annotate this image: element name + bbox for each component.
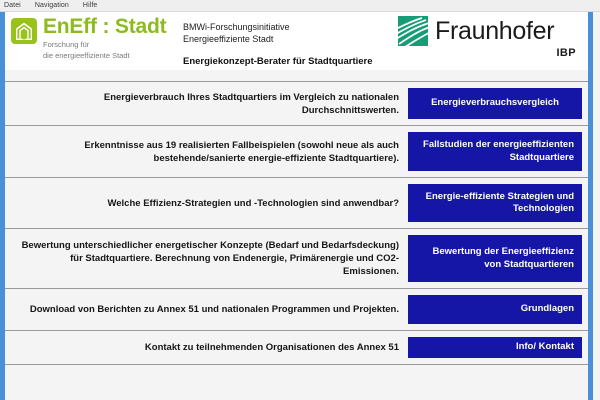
fraunhofer-wordmark: Fraunhofer bbox=[435, 17, 554, 45]
eneff-subtitle-line1: Forschung für bbox=[43, 40, 166, 50]
row-bewertung-energieeffizienz: Bewertung unterschiedlicher energetische… bbox=[5, 228, 588, 288]
eneff-brand: EnEff : Stadt Forschung für die energiee… bbox=[5, 12, 177, 61]
fraunhofer-brand: Fraunhofer IBP bbox=[398, 12, 588, 59]
fraunhofer-institute-abbr: IBP bbox=[398, 47, 580, 59]
initiative-line-2: Energieeffiziente Stadt bbox=[183, 34, 398, 46]
eneff-title: EnEff : Stadt bbox=[43, 15, 166, 39]
row-info-kontakt: Kontakt zu teilnehmenden Organisationen … bbox=[5, 330, 588, 365]
button-fallstudien[interactable]: Fallstudien der energieeffizienten Stadt… bbox=[408, 132, 582, 171]
row-fallstudien: Erkenntnisse aus 19 realisierten Fallbei… bbox=[5, 125, 588, 177]
eneff-subtitle-line2: die energieeffiziente Stadt bbox=[43, 51, 166, 61]
menu-bar-right-filler bbox=[588, 0, 600, 12]
page-header: EnEff : Stadt Forschung für die energiee… bbox=[5, 12, 588, 70]
row-energieverbrauchsvergleich: Energieverbrauch Ihres Stadtquartiers im… bbox=[5, 81, 588, 125]
button-bewertung-energieeffizienz[interactable]: Bewertung der Energieeffizienz von Stadt… bbox=[408, 235, 582, 282]
row-strategien-technologien: Welche Effizienz-Strategien und -Technol… bbox=[5, 177, 588, 228]
eneff-brand-text: EnEff : Stadt Forschung für die energiee… bbox=[43, 15, 166, 61]
row-description: Welche Effizienz-Strategien und -Technol… bbox=[5, 184, 408, 222]
eneff-house-logo-icon bbox=[11, 18, 37, 44]
page-title: Energiekonzept-Berater für Stadtquartier… bbox=[183, 56, 398, 67]
content-area: EnEff : Stadt Forschung für die energiee… bbox=[5, 12, 588, 400]
window-outer-margin-right bbox=[593, 0, 600, 400]
button-grundlagen[interactable]: Grundlagen bbox=[408, 295, 582, 324]
menu-item-navigation[interactable]: Navigation bbox=[35, 0, 76, 11]
fraunhofer-logo-row: Fraunhofer bbox=[398, 16, 580, 46]
menu-item-hilfe[interactable]: Hilfe bbox=[83, 0, 105, 11]
row-description: Kontakt zu teilnehmenden Organisationen … bbox=[5, 337, 408, 358]
application-window: Datei Navigation Hilfe EnEff : Stadt For… bbox=[0, 0, 600, 400]
row-description: Bewertung unterschiedlicher energetische… bbox=[5, 235, 408, 282]
initiative-block: BMWi-Forschungsinitiative Energieeffizie… bbox=[177, 12, 398, 67]
button-strategien-technologien[interactable]: Energie-effiziente Strategien und Techno… bbox=[408, 184, 582, 222]
menu-item-datei[interactable]: Datei bbox=[4, 0, 28, 11]
button-info-kontakt[interactable]: Info/ Kontakt bbox=[408, 337, 582, 358]
button-energieverbrauchsvergleich[interactable]: Energieverbrauchsvergleich bbox=[408, 88, 582, 119]
row-description: Energieverbrauch Ihres Stadtquartiers im… bbox=[5, 88, 408, 119]
row-description: Download von Berichten zu Annex 51 und n… bbox=[5, 295, 408, 324]
row-description: Erkenntnisse aus 19 realisierten Fallbei… bbox=[5, 132, 408, 171]
initiative-line-1: BMWi-Forschungsinitiative bbox=[183, 22, 398, 34]
row-grundlagen: Download von Berichten zu Annex 51 und n… bbox=[5, 288, 588, 330]
navigation-rows: Energieverbrauch Ihres Stadtquartiers im… bbox=[5, 70, 588, 365]
menu-bar: Datei Navigation Hilfe bbox=[0, 0, 600, 12]
fraunhofer-stripes-icon bbox=[398, 16, 428, 46]
